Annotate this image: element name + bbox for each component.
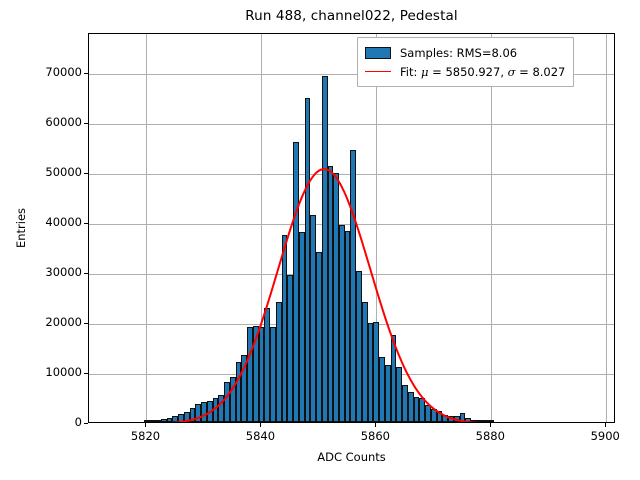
legend-fit-mu-value: = 5850.927, — [429, 65, 508, 79]
x-axis-tick-label: 5860 — [345, 429, 405, 443]
y-axis-tick-label: 20000 — [45, 315, 82, 329]
y-axis-tick — [84, 273, 88, 274]
x-axis-tick-label: 5840 — [230, 429, 290, 443]
plot-area — [88, 33, 615, 423]
x-axis-tick-label: 5880 — [460, 429, 520, 443]
y-axis-tick — [84, 173, 88, 174]
y-axis-tick — [84, 423, 88, 424]
x-axis-tick — [490, 423, 491, 427]
x-axis-tick — [145, 423, 146, 427]
y-axis-tick-label: 30000 — [45, 265, 82, 279]
y-axis-tick — [84, 373, 88, 374]
y-axis-tick — [84, 323, 88, 324]
legend: Samples: RMS=8.06 Fit: μ = 5850.927, σ =… — [357, 37, 574, 87]
legend-fit-sigma-symbol: σ — [508, 65, 516, 79]
y-axis-tick-label: 0 — [75, 415, 82, 429]
chart-title: Run 488, channel022, Pedestal — [0, 8, 640, 24]
y-axis-tick-label: 40000 — [45, 215, 82, 229]
legend-fit-prefix: Fit: — [400, 65, 421, 79]
y-axis-tick-label: 70000 — [45, 65, 82, 79]
y-axis-tick-label: 60000 — [45, 115, 82, 129]
x-axis-tick — [605, 423, 606, 427]
y-axis-tick — [84, 223, 88, 224]
y-axis-tick — [84, 123, 88, 124]
gaussian-fit-curve — [89, 34, 615, 423]
legend-fit-sigma-value: = 8.027 — [516, 65, 566, 79]
y-axis-tick — [84, 73, 88, 74]
y-axis-tick-label: 10000 — [45, 365, 82, 379]
fit-curve-path — [100, 169, 548, 423]
legend-item-fit: Fit: μ = 5850.927, σ = 8.027 — [365, 62, 565, 81]
x-axis-tick — [375, 423, 376, 427]
legend-patch-icon — [365, 47, 391, 59]
matplotlib-figure: Run 488, channel022, Pedestal 0100002000… — [0, 0, 640, 480]
x-axis-tick-label: 5900 — [575, 429, 635, 443]
y-axis-tick-label: 50000 — [45, 165, 82, 179]
x-axis-tick — [260, 423, 261, 427]
chart-title-text: Run 488, channel022, Pedestal — [245, 8, 457, 24]
y-axis-label: Entries — [14, 33, 30, 423]
legend-label-fit: Fit: μ = 5850.927, σ = 8.027 — [400, 65, 565, 79]
legend-line-icon — [365, 71, 391, 72]
x-axis-label: ADC Counts — [88, 450, 615, 464]
x-axis-tick-label: 5820 — [115, 429, 175, 443]
legend-fit-mu-symbol: μ — [421, 65, 428, 79]
legend-label-samples: Samples: RMS=8.06 — [400, 46, 517, 60]
legend-item-samples: Samples: RMS=8.06 — [365, 43, 565, 62]
